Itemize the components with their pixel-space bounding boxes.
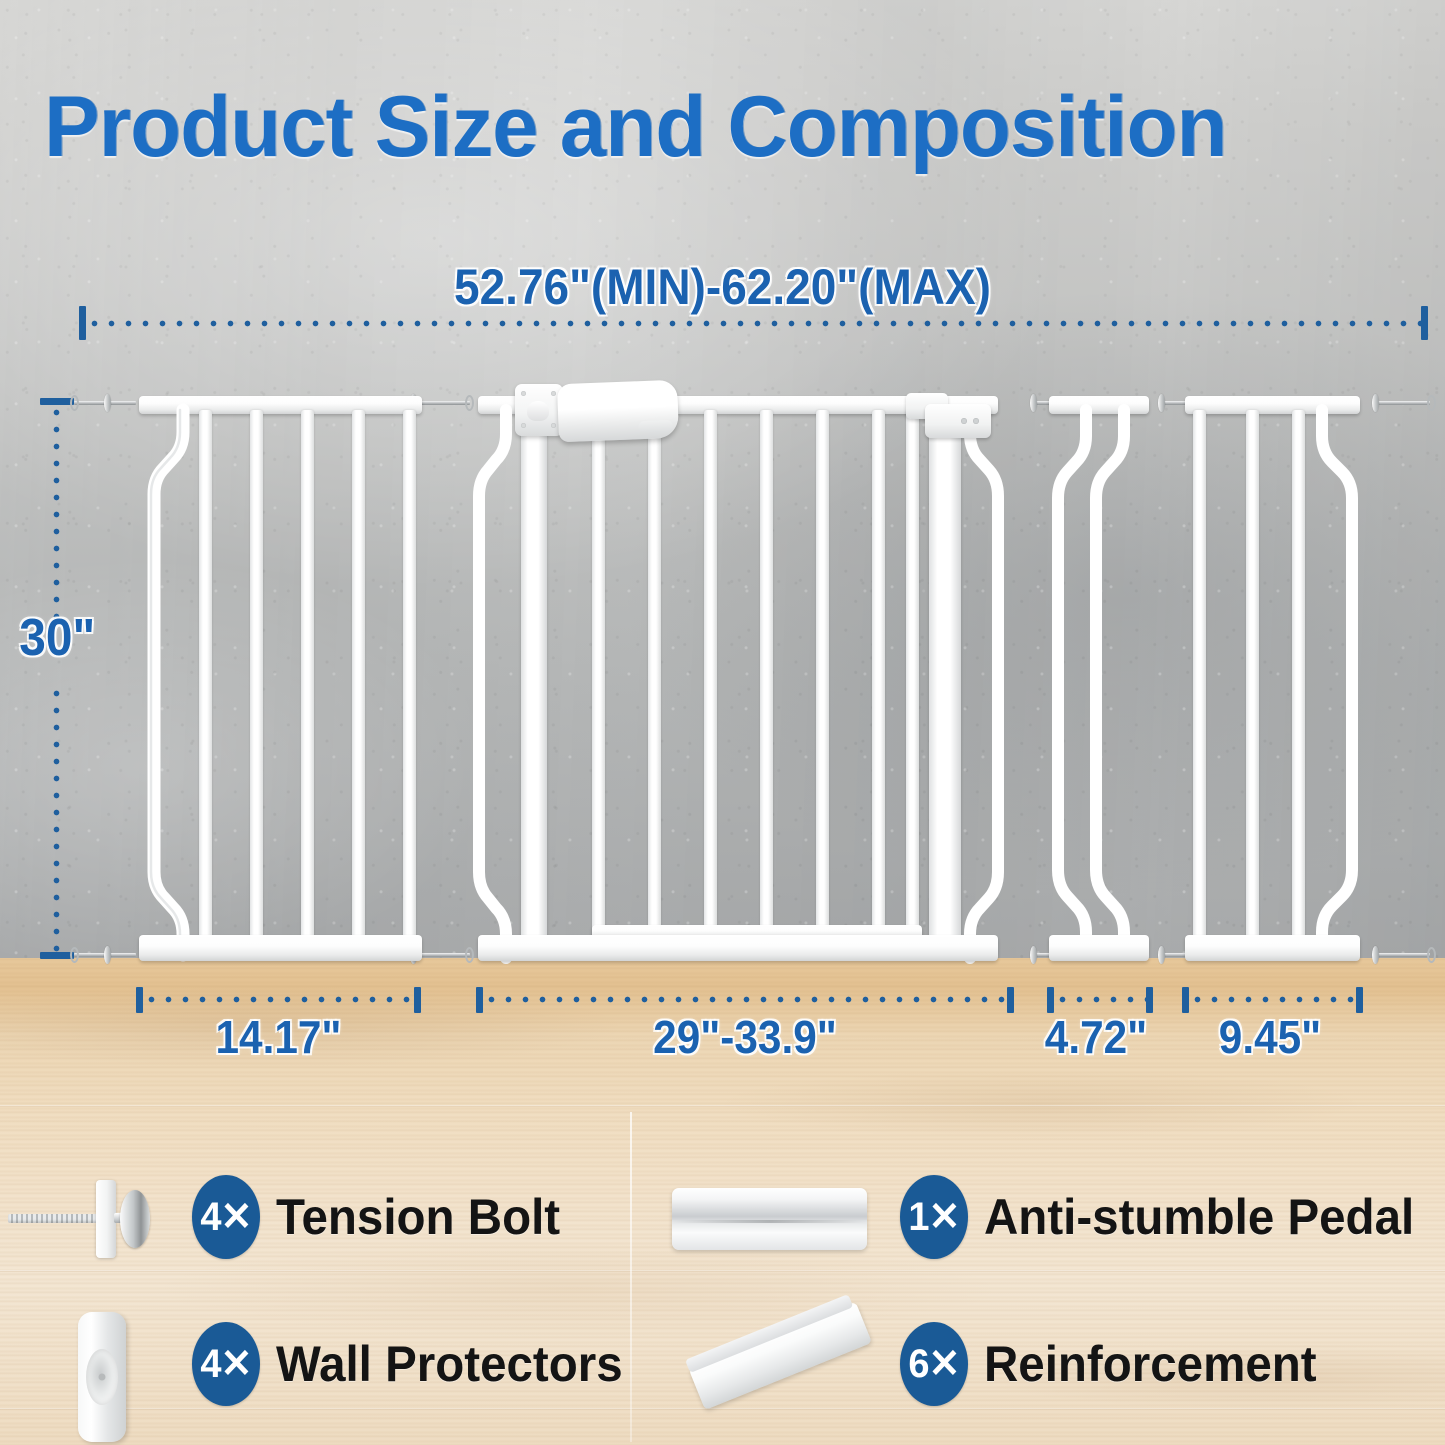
quantity-badge: 4✕ bbox=[192, 1175, 260, 1259]
gate-frame-post-right bbox=[929, 410, 961, 955]
accessory-item-reinforcement: 6✕ Reinforcement bbox=[900, 1322, 1334, 1406]
anti-stumble-pedal-icon bbox=[672, 1188, 867, 1250]
floor-plank-divider bbox=[0, 1270, 1445, 1272]
quantity-badge: 6✕ bbox=[900, 1322, 968, 1406]
overall-width-dotline bbox=[86, 320, 1426, 327]
left-extension-cap-right bbox=[414, 987, 421, 1013]
accessory-label: Anti-stumble Pedal bbox=[984, 1188, 1414, 1246]
medium-extension-width-label: 9.45" bbox=[1187, 1010, 1353, 1064]
vertical-bar bbox=[704, 410, 717, 940]
left-extension-dotline bbox=[143, 996, 415, 1003]
height-label: 30" bbox=[19, 608, 95, 668]
accessory-label: Wall Protectors bbox=[276, 1335, 623, 1393]
quantity-badge: 1✕ bbox=[900, 1175, 968, 1259]
s-curve-bar bbox=[962, 410, 1010, 958]
vertical-bar bbox=[906, 410, 919, 940]
infographic-stage: Product Size and Composition 52.76"(MIN)… bbox=[0, 0, 1445, 1445]
vertical-bar bbox=[648, 410, 661, 940]
tension-bolt-icon bbox=[68, 945, 140, 965]
panel-bottom-rail bbox=[1185, 935, 1360, 961]
vertical-bar bbox=[592, 410, 605, 940]
accessory-item-wall-protectors: 4✕ Wall Protectors bbox=[192, 1322, 641, 1406]
accessory-item-anti-stumble-pedal: 1✕ Anti-stumble Pedal bbox=[900, 1175, 1437, 1259]
left-extension-width-label: 14.17" bbox=[147, 1010, 409, 1064]
vertical-bar bbox=[1193, 410, 1206, 955]
vertical-bar bbox=[760, 410, 773, 940]
accessory-label: Reinforcement bbox=[984, 1335, 1317, 1393]
main-gate-cap-right bbox=[1007, 987, 1014, 1013]
height-dotline-upper bbox=[53, 404, 60, 629]
small-extension-width-label: 4.72" bbox=[1037, 1010, 1155, 1064]
height-dotline-lower bbox=[53, 685, 60, 957]
floor-plank-divider bbox=[0, 1105, 1445, 1107]
vertical-bar bbox=[403, 410, 416, 955]
overall-width-label: 52.76"(MIN)-62.20"(MAX) bbox=[58, 258, 1387, 316]
gate-handle-lever[interactable] bbox=[557, 380, 679, 443]
tension-bolt-icon bbox=[1372, 945, 1442, 965]
vertical-bar bbox=[1292, 410, 1305, 955]
vertical-bar bbox=[301, 410, 314, 955]
s-curve-bar bbox=[144, 410, 192, 955]
overall-width-cap-right bbox=[1421, 306, 1428, 340]
s-curve-bar bbox=[476, 410, 524, 958]
vertical-bar bbox=[872, 410, 885, 940]
tension-bolt-icon bbox=[1158, 393, 1186, 413]
tension-bolt-icon bbox=[1158, 945, 1186, 965]
vertical-bar bbox=[352, 410, 365, 955]
left-extension-cap-left bbox=[136, 987, 143, 1013]
medium-extension-dotline bbox=[1189, 996, 1357, 1003]
main-gate-width-label: 29"-33.9" bbox=[498, 1010, 993, 1064]
gate-lock-housing bbox=[515, 384, 563, 436]
gate-bottom-rail bbox=[478, 935, 998, 961]
overall-width-cap-left bbox=[79, 306, 86, 340]
panel-bottom-rail bbox=[139, 935, 422, 961]
small-extension-dotline bbox=[1054, 996, 1147, 1003]
main-gate-cap-left bbox=[476, 987, 483, 1013]
tension-bolt-icon bbox=[68, 393, 140, 413]
main-gate-dotline bbox=[483, 996, 1008, 1003]
wall-protector-icon bbox=[78, 1312, 126, 1442]
gate-hinge-bracket bbox=[925, 404, 991, 438]
panel-bottom-rail bbox=[1049, 935, 1149, 961]
tension-bolt-icon bbox=[8, 1178, 173, 1258]
vertical-bar bbox=[199, 410, 212, 955]
vertical-bar bbox=[1246, 410, 1259, 955]
vertical-bar bbox=[250, 410, 263, 955]
s-curve-bar bbox=[1092, 410, 1140, 955]
medium-extension-cap-right bbox=[1356, 987, 1363, 1013]
gate-frame-post-left bbox=[521, 410, 547, 955]
s-curve-bar bbox=[1312, 410, 1364, 955]
tension-bolt-icon bbox=[1372, 393, 1442, 413]
page-title: Product Size and Composition bbox=[44, 84, 1383, 170]
accessory-item-tension-bolt: 4✕ Tension Bolt bbox=[192, 1175, 575, 1259]
accessory-label: Tension Bolt bbox=[276, 1188, 560, 1246]
quantity-badge: 4✕ bbox=[192, 1322, 260, 1406]
vertical-bar bbox=[816, 410, 829, 940]
